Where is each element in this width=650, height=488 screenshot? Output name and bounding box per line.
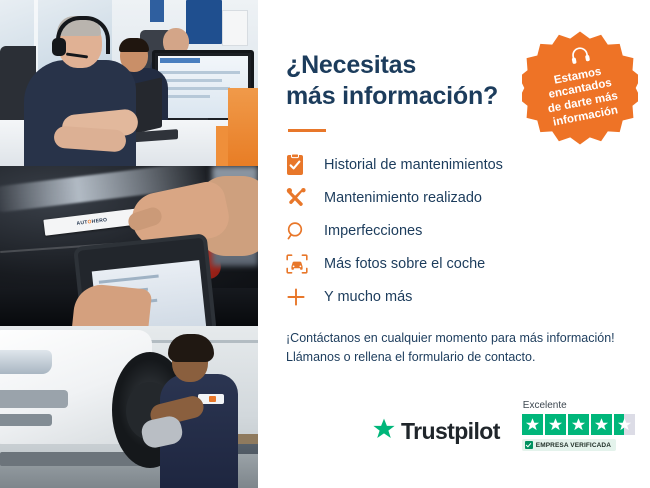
support-badge: Estamos encantados de darte más informac… — [522, 30, 638, 146]
technician-hair — [168, 334, 214, 362]
car-headlight — [0, 350, 52, 374]
verified-company-badge: EMPRESA VERIFICADA — [522, 439, 616, 451]
orange-equipment — [228, 88, 258, 166]
monitor-screen-row — [160, 87, 230, 90]
trustpilot-rating: Excelente — [522, 400, 635, 454]
car-grille — [0, 390, 68, 408]
orange-equipment-back — [216, 126, 228, 166]
tablet-screen-row — [99, 275, 159, 284]
badge-text: Estamos encantados de darte más informac… — [512, 20, 648, 156]
information-promo-card: AUTOHERO — [0, 0, 650, 488]
trustpilot-star-half — [614, 414, 635, 435]
feature-label: Más fotos sobre el coche — [316, 256, 485, 272]
feature-label: Imperfecciones — [316, 223, 422, 239]
plus-icon — [286, 287, 316, 307]
feature-label: Mantenimiento realizado — [316, 190, 482, 206]
magnifier-imperfections-icon — [286, 221, 316, 241]
wall-paper — [222, 10, 248, 46]
monitor-screen-row — [160, 71, 240, 74]
trustpilot-star-filled — [591, 414, 612, 435]
verified-check-icon — [525, 441, 533, 449]
page-title: ¿Necesitas más información? — [286, 50, 518, 111]
wall-poster — [186, 0, 222, 44]
feature-label: Historial de mantenimientos — [316, 157, 503, 173]
feature-item-maintenance-done: Mantenimiento realizado — [286, 181, 624, 214]
contact-text-line-1: ¡Contáctanos en cualquier momento para m… — [286, 329, 624, 348]
feature-item-imperfections: Imperfecciones — [286, 214, 624, 247]
trustpilot-star-filled — [522, 414, 543, 435]
feature-item-maintenance-history: Historial de mantenimientos — [286, 148, 624, 181]
trustpilot-rating-label: Excelente — [523, 400, 635, 411]
maintenance-history-icon — [286, 154, 316, 176]
trustpilot-logo[interactable]: Trustpilot — [372, 417, 500, 446]
page-title-line-1: ¿Necesitas — [286, 51, 416, 79]
trustpilot-star-filled — [568, 414, 589, 435]
agent-headset-cup — [52, 38, 66, 56]
trustpilot-star-filled — [545, 414, 566, 435]
feature-list: Historial de mantenimientos Mantenimient… — [286, 148, 624, 313]
tools-wrench-screwdriver-icon — [286, 187, 316, 208]
monitor-screen-header — [160, 58, 200, 63]
trustpilot-star-icon — [372, 417, 396, 446]
photo-strip: AUTOHERO — [0, 0, 258, 488]
car-inspection-ruler-photo: AUTOHERO — [0, 166, 258, 326]
car-photo-focus-icon — [286, 254, 316, 274]
feature-item-more-photos: Más fotos sobre el coche — [286, 247, 624, 280]
feature-item-much-more: Y mucho más — [286, 280, 624, 313]
call-centre-agents-photo — [0, 0, 258, 166]
page-title-line-2: más información? — [286, 82, 498, 110]
contact-text: ¡Contáctanos en cualquier momento para m… — [286, 329, 624, 368]
workshop-wheel-inspection-photo — [0, 326, 258, 488]
agent-two-hair — [119, 38, 149, 52]
monitor-screen-row — [160, 79, 222, 82]
autohero-ruler-label: AUTOHERO — [76, 217, 107, 227]
wall-poster-small — [150, 0, 164, 22]
contact-text-line-2: Llámanos o rellena el formulario de cont… — [286, 348, 624, 367]
trustpilot-logo-text: Trustpilot — [401, 418, 500, 445]
feature-label: Y mucho más — [316, 289, 412, 305]
title-divider — [288, 129, 326, 132]
verified-company-label: EMPRESA VERIFICADA — [536, 442, 611, 449]
trustpilot-stars — [522, 414, 635, 435]
car-lower-grille — [0, 414, 52, 426]
content-panel: ¿Necesitas más información? Historial de… — [258, 0, 650, 488]
trustpilot-widget[interactable]: Trustpilot Excelente — [286, 400, 650, 454]
